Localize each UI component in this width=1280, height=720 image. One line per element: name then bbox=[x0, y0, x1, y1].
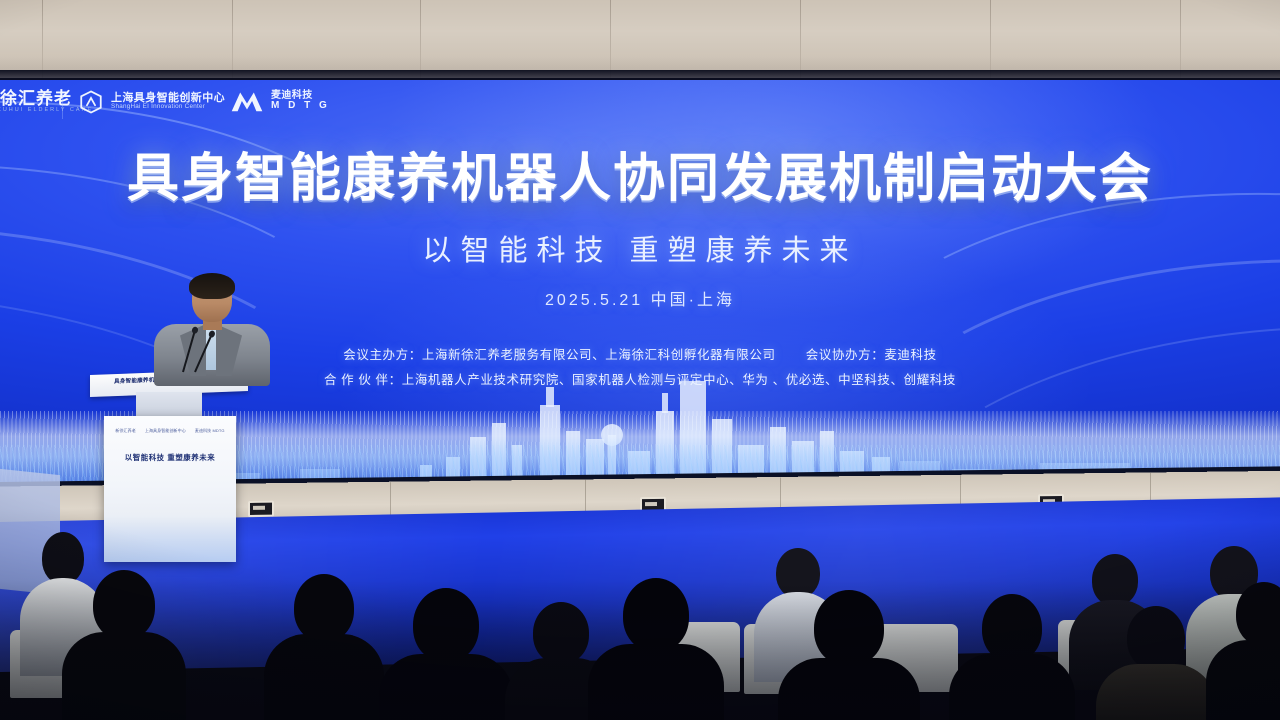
speaker-hair bbox=[189, 273, 235, 299]
event-title: 具身智能康养机器人协同发展机制启动大会 bbox=[0, 136, 1280, 211]
organizer-co-host: 会议协办方：麦迪科技 bbox=[806, 348, 937, 362]
logo-mdtg: 麦迪科技 M D T G bbox=[230, 88, 330, 114]
podium-neck bbox=[136, 392, 202, 418]
audience-person bbox=[390, 588, 502, 720]
podium-logo-2: 上海具身智能创新中心 bbox=[145, 428, 186, 434]
logo-ei-en: ShangHai EI Innovation Center bbox=[111, 104, 225, 111]
organizer-host: 会议主办方：上海新徐汇养老服务有限公司、上海徐汇科创孵化器有限公司 bbox=[343, 348, 775, 362]
podium-logo-row: 新徐汇养老 上海具身智能创新中心 麦迪科技 MDTG bbox=[104, 428, 236, 434]
logo-ei-innovation-center: 上海具身智能创新中心 ShangHai EI Innovation Center bbox=[78, 89, 225, 115]
logo-mdtg-en: M D T G bbox=[271, 101, 330, 112]
audience-person bbox=[790, 590, 908, 720]
audience-area bbox=[0, 470, 1280, 720]
ei-innovation-center-logo-icon bbox=[78, 89, 104, 115]
screen-logo-bar: 新徐汇养老 XINXUHUI ELDERLY CARE 上海具身智能创新中心 S… bbox=[0, 86, 1280, 128]
mdtg-logo-icon bbox=[230, 88, 264, 114]
podium-logo-1: 新徐汇养老 bbox=[115, 428, 136, 434]
podium-logo-3: 麦迪科技 MDTG bbox=[195, 428, 225, 434]
event-subtitle: 以智能科技 重塑康养未来 bbox=[0, 227, 1280, 269]
audience-person bbox=[1216, 582, 1280, 720]
audience-person bbox=[960, 594, 1064, 720]
podium-subtitle-text: 以智能科技 重塑康养未来 bbox=[104, 452, 236, 463]
audience-person bbox=[70, 570, 178, 720]
audience-person bbox=[600, 578, 712, 720]
audience-person bbox=[1106, 606, 1206, 720]
speaker-person bbox=[150, 276, 272, 386]
conference-photo: 新徐汇养老 XINXUHUI ELDERLY CARE 上海具身智能创新中心 S… bbox=[0, 0, 1280, 720]
audience-person bbox=[272, 574, 376, 720]
venue-wall bbox=[0, 0, 1280, 78]
